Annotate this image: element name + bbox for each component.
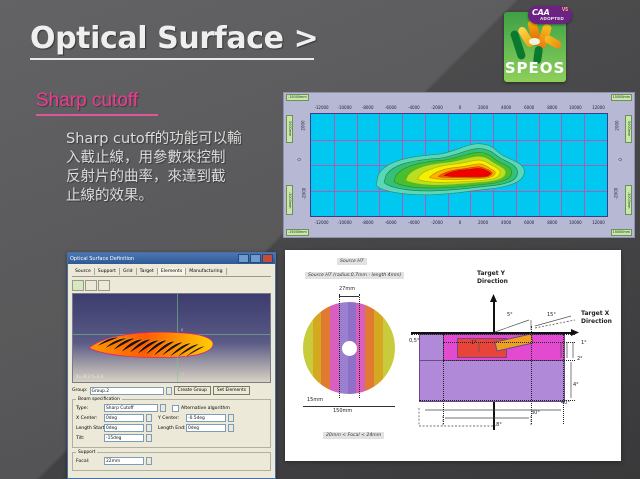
- contour-x-tick: 6000: [521, 220, 537, 225]
- minimize-icon[interactable]: [238, 254, 249, 263]
- beam-type-label: Type:: [76, 406, 102, 411]
- contour-y-tick: -2000: [301, 188, 306, 200]
- contour-plot-area: [310, 113, 608, 217]
- beam-tilt-row: Tilt: -15deg: [76, 434, 267, 442]
- contour-corner-bottom-right: 15000mm: [611, 229, 632, 236]
- set-elements-button[interactable]: Set Elements: [213, 386, 250, 395]
- contour-y-tick: 0: [297, 158, 302, 161]
- logo-spark: [529, 38, 540, 45]
- contour-corner-top-left: -15000mm: [286, 94, 309, 101]
- logo-ray-orange-3: [543, 34, 563, 50]
- subtitle-underline: [36, 114, 158, 116]
- next-view-icon[interactable]: [98, 280, 110, 291]
- y-center-input[interactable]: -0.5deg: [186, 414, 226, 422]
- angle-leader-lines: [285, 250, 621, 461]
- contour-y-tick: 0: [618, 158, 623, 161]
- focal-input[interactable]: 22mm: [104, 457, 144, 465]
- tilt-stepper[interactable]: [146, 434, 152, 442]
- body-line: Sharp cutoff的功能可以輸: [66, 130, 266, 149]
- contour-x-tick: 8000: [544, 220, 560, 225]
- dialog-titlebar[interactable]: Optical Surface Definition: [68, 253, 275, 264]
- body-line: 入截止線，用參數來控制: [66, 149, 266, 168]
- caa-badge: CAA V5 ADOPTED: [528, 6, 572, 24]
- contour-corner-top-right: 15000mm: [611, 94, 632, 101]
- contour-blob: [311, 114, 607, 216]
- length-start-input[interactable]: 0deg: [104, 424, 144, 432]
- alternative-algorithm-checkbox[interactable]: [172, 405, 179, 412]
- body-line: 止線的效果。: [66, 187, 266, 206]
- contour-x-tick: 12000: [590, 220, 606, 225]
- focal-label: Focal:: [76, 459, 102, 464]
- contour-x-tick: -6000: [383, 105, 399, 110]
- dialog-title: Optical Surface Definition: [70, 256, 237, 262]
- contour-x-tick: -10000: [337, 105, 353, 110]
- body-line: 反射片的曲率，來達到截: [66, 168, 266, 187]
- tab-elements[interactable]: Elements: [158, 268, 186, 275]
- contour-x-tick: -6000: [383, 220, 399, 225]
- contour-x-tick: 0: [452, 105, 468, 110]
- support-legend: Support: [76, 450, 97, 455]
- length-end-input[interactable]: 0deg: [186, 424, 226, 432]
- beam-type-select[interactable]: Sharp Cutoff: [104, 404, 158, 412]
- contour-x-tick: 0: [452, 220, 468, 225]
- group-row: Group: Group.2 Create Group Set Elements: [72, 386, 271, 395]
- length-end-label: Length End:: [158, 426, 184, 431]
- beam-specification-legend: Beam specification: [76, 397, 122, 402]
- contour-x-tick: -12000: [314, 220, 330, 225]
- length-end-stepper[interactable]: [228, 424, 234, 432]
- speos-logo: SPEOS CAA V5 ADOPTED: [504, 6, 572, 84]
- beam-type-row: Type: Sharp Cutoff Alternative algorithm: [76, 404, 267, 412]
- contour-x-tick: -10000: [337, 220, 353, 225]
- length-start-stepper[interactable]: [146, 424, 152, 432]
- tab-target[interactable]: Target: [137, 268, 158, 275]
- tab-support[interactable]: Support: [95, 268, 120, 275]
- tab-grid[interactable]: Grid: [120, 268, 137, 275]
- contour-y-tick: 2000: [614, 120, 619, 130]
- 3d-viewport[interactable]: 0 -5: [72, 293, 271, 383]
- dialog-toolbar[interactable]: [72, 280, 271, 291]
- contour-panel: -15000mm 15000mm -15000mm 15000mm 5000mm…: [283, 92, 635, 238]
- close-icon[interactable]: [262, 254, 273, 263]
- contour-side-right-top: 5000mm: [625, 115, 632, 143]
- render-mode-icon[interactable]: [72, 280, 84, 291]
- x-center-label: X Center:: [76, 416, 102, 421]
- contour-x-tick: 10000: [567, 105, 583, 110]
- beam-specification-group: Beam specification Type: Sharp Cutoff Al…: [72, 397, 271, 448]
- tilt-label: Tilt:: [76, 436, 102, 441]
- beam-length-row: Length Start: 0deg Length End: 0deg: [76, 424, 267, 432]
- x-center-input[interactable]: 0deg: [104, 414, 144, 422]
- group-label: Group:: [72, 388, 88, 393]
- caa-badge-version: V5: [562, 7, 568, 13]
- optical-diagram: Source H7 Source H7 (radius:0,7mm - leng…: [285, 250, 621, 461]
- dialog-tabs[interactable]: SourceSupportGridTargetElementsManufactu…: [72, 268, 271, 277]
- contour-x-tick: 4000: [498, 220, 514, 225]
- contour-x-tick: 2000: [475, 105, 491, 110]
- logo-wordmark: SPEOS: [504, 59, 566, 77]
- slide-canvas: Optical Surface > Sharp cutoff Sharp cut…: [0, 0, 640, 479]
- contour-x-tick: 4000: [498, 105, 514, 110]
- viewport-mark-minus5: -5: [181, 372, 185, 376]
- y-center-label: Y Center:: [158, 416, 184, 421]
- caa-badge-sub: ADOPTED: [540, 16, 564, 21]
- reflector-beam-model: [87, 328, 215, 360]
- focal-row: Focal: 22mm: [76, 457, 267, 465]
- contour-x-tick: -8000: [360, 220, 376, 225]
- group-select[interactable]: Group.2: [90, 387, 164, 395]
- beam-center-row: X Center: 0deg Y Center: -0.5deg: [76, 414, 267, 422]
- create-group-button[interactable]: Create Group: [174, 386, 211, 395]
- support-group: Support Focal: 22mm: [72, 450, 271, 471]
- contour-y-tick: -2000: [614, 188, 619, 200]
- maximize-icon[interactable]: [250, 254, 261, 263]
- contour-x-tick: 12000: [590, 105, 606, 110]
- contour-x-tick: 8000: [544, 105, 560, 110]
- contour-y-tick: 2000: [301, 120, 306, 130]
- contour-x-tick: -4000: [406, 105, 422, 110]
- x-center-stepper[interactable]: [146, 414, 152, 422]
- contour-side-left-bottom: -5000mm: [286, 185, 293, 215]
- page-title: Optical Surface >: [30, 24, 360, 54]
- prev-view-icon[interactable]: [85, 280, 97, 291]
- contour-x-tick: -12000: [314, 105, 330, 110]
- contour-x-tick: 6000: [521, 105, 537, 110]
- focal-stepper[interactable]: [146, 457, 152, 465]
- group-dropdown-icon[interactable]: [166, 387, 172, 395]
- beam-type-dropdown-icon[interactable]: [160, 404, 166, 412]
- title-underline: [30, 58, 314, 60]
- subtitle: Sharp cutoff: [36, 90, 138, 112]
- viewport-coordinates: X=-9.3 Y=3.4: [76, 374, 103, 379]
- y-center-stepper[interactable]: [228, 414, 234, 422]
- contour-side-left-top: 5000mm: [286, 115, 293, 143]
- contour-x-tick: -2000: [429, 105, 445, 110]
- title-block: Optical Surface >: [30, 24, 360, 60]
- contour-x-tick: 2000: [475, 220, 491, 225]
- tilt-input[interactable]: -15deg: [104, 434, 144, 442]
- contour-x-tick: -2000: [429, 220, 445, 225]
- optical-surface-dialog[interactable]: Optical Surface Definition SourceSupport…: [67, 252, 276, 479]
- body-text: Sharp cutoff的功能可以輸 入截止線，用參數來控制 反射片的曲率，來達…: [66, 130, 266, 207]
- dialog-body: SourceSupportGridTargetElementsManufactu…: [68, 264, 275, 477]
- alternative-algorithm-label: Alternative algorithm: [181, 406, 230, 411]
- contour-corner-bottom-left: -15000mm: [286, 229, 309, 236]
- contour-side-right-bottom: -5000mm: [625, 185, 632, 215]
- length-start-label: Length Start:: [76, 426, 102, 431]
- tab-manufacturing[interactable]: Manufacturing: [186, 268, 226, 275]
- contour-x-tick: 10000: [567, 220, 583, 225]
- contour-x-tick: -4000: [406, 220, 422, 225]
- tab-source[interactable]: Source: [72, 268, 95, 275]
- contour-x-tick: -8000: [360, 105, 376, 110]
